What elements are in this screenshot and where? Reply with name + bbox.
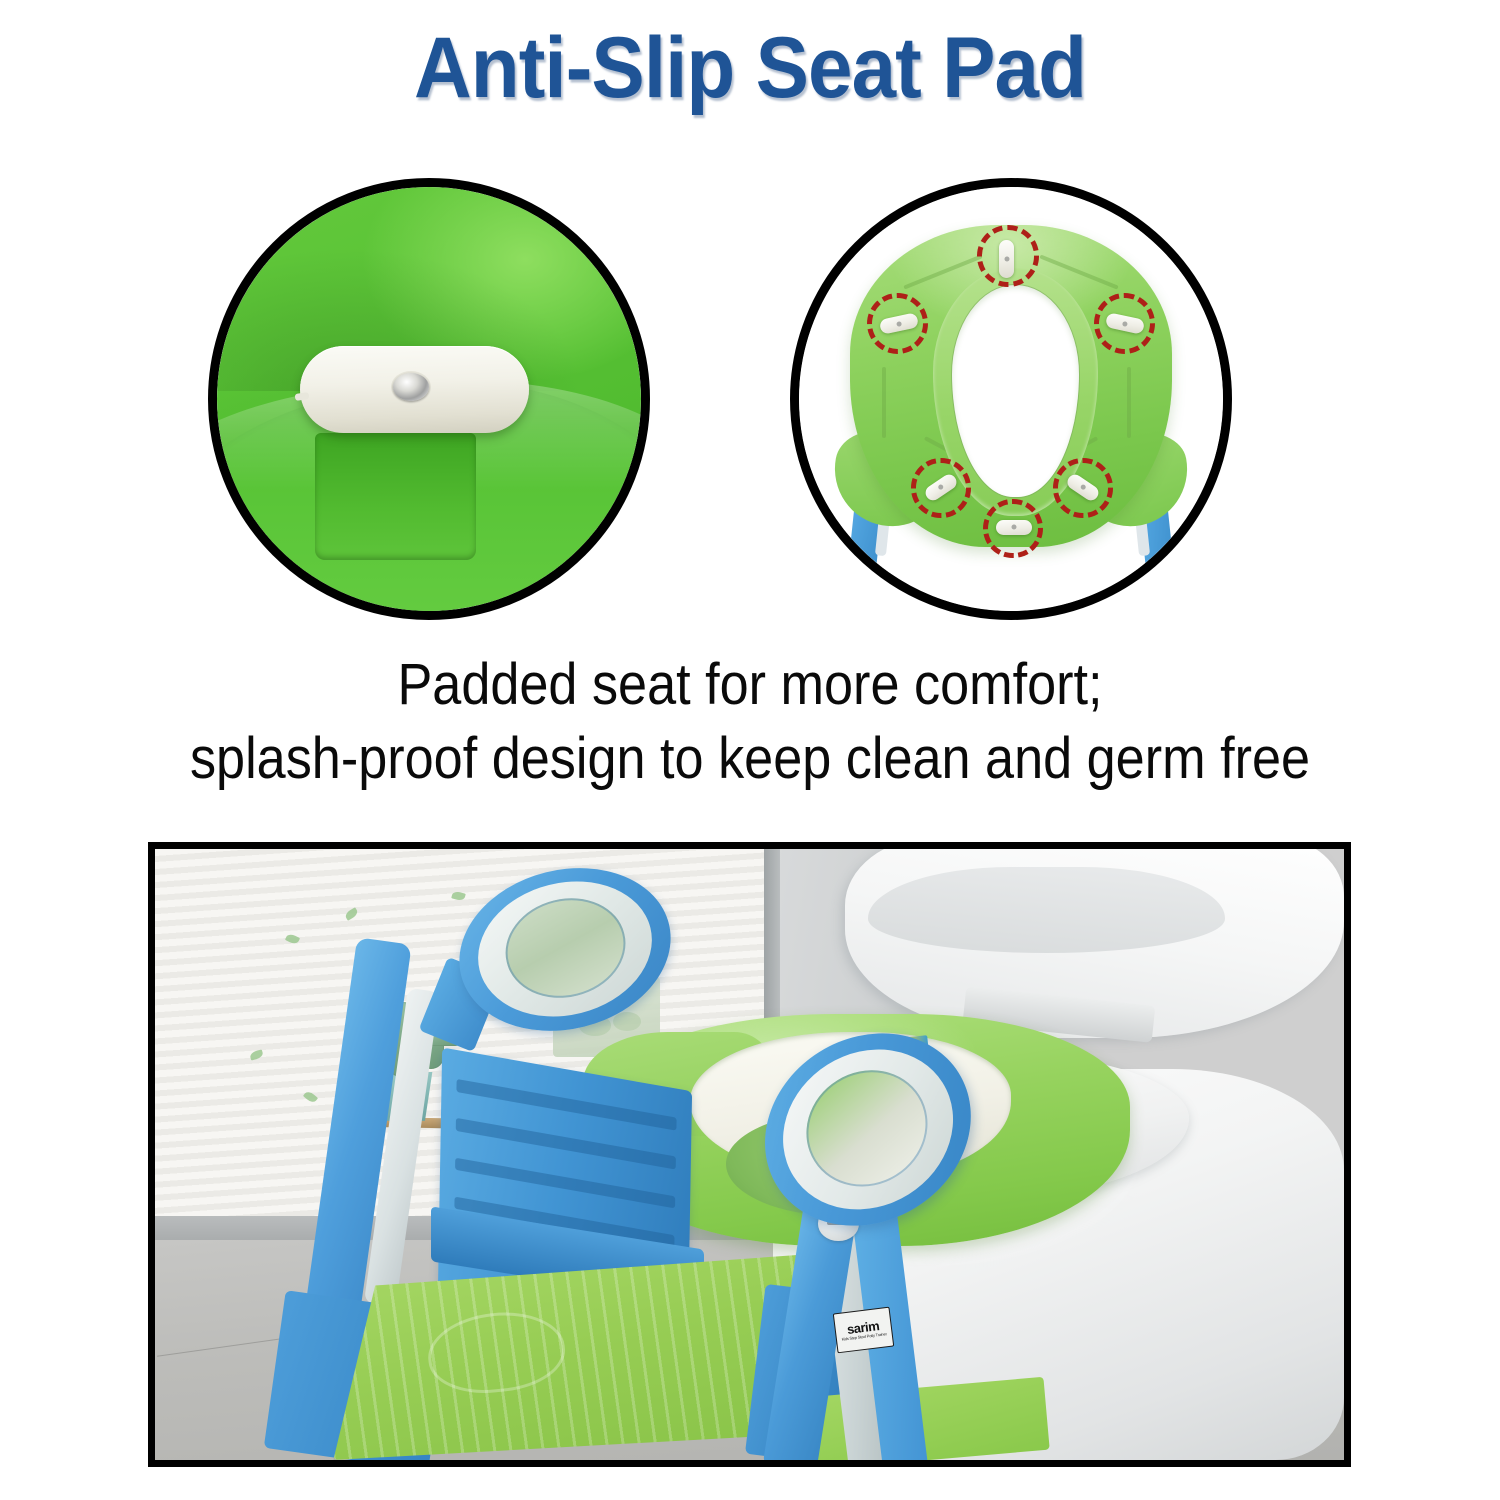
highlight-ring bbox=[977, 225, 1038, 286]
succulent-leaf-icon bbox=[613, 1012, 641, 1031]
detail-circle-pad-closeup bbox=[208, 178, 650, 620]
product-photo-frame: sarim Kids Step Stool Potty Trainer bbox=[148, 842, 1351, 1467]
highlight-ring bbox=[1053, 458, 1112, 517]
feature-caption: Padded seat for more comfort; splash-pro… bbox=[75, 648, 1425, 796]
product-photo: sarim Kids Step Stool Potty Trainer bbox=[155, 849, 1344, 1460]
caption-line-1: Padded seat for more comfort; bbox=[75, 648, 1425, 722]
seat-rib bbox=[1127, 367, 1131, 438]
page-title: Anti-Slip Seat Pad bbox=[53, 22, 1448, 114]
pad-closeup-scene bbox=[217, 187, 641, 611]
pad-screw-icon bbox=[393, 373, 429, 401]
highlight-ring bbox=[983, 499, 1042, 558]
anti-slip-pad bbox=[300, 346, 529, 433]
seat-underside-scene bbox=[799, 187, 1223, 611]
seat-recess-slot bbox=[315, 433, 476, 560]
seat-rib bbox=[882, 367, 886, 438]
caption-line-2: splash-proof design to keep clean and ge… bbox=[75, 722, 1425, 796]
ladder-slat bbox=[457, 1079, 677, 1130]
detail-circle-seat-underside bbox=[790, 178, 1232, 620]
ladder-slat bbox=[455, 1157, 675, 1208]
brand-label: sarim Kids Step Stool Potty Trainer bbox=[833, 1307, 894, 1353]
highlight-ring bbox=[911, 458, 970, 517]
ladder-slat bbox=[456, 1118, 676, 1169]
toilet-lid-underside bbox=[868, 867, 1225, 953]
